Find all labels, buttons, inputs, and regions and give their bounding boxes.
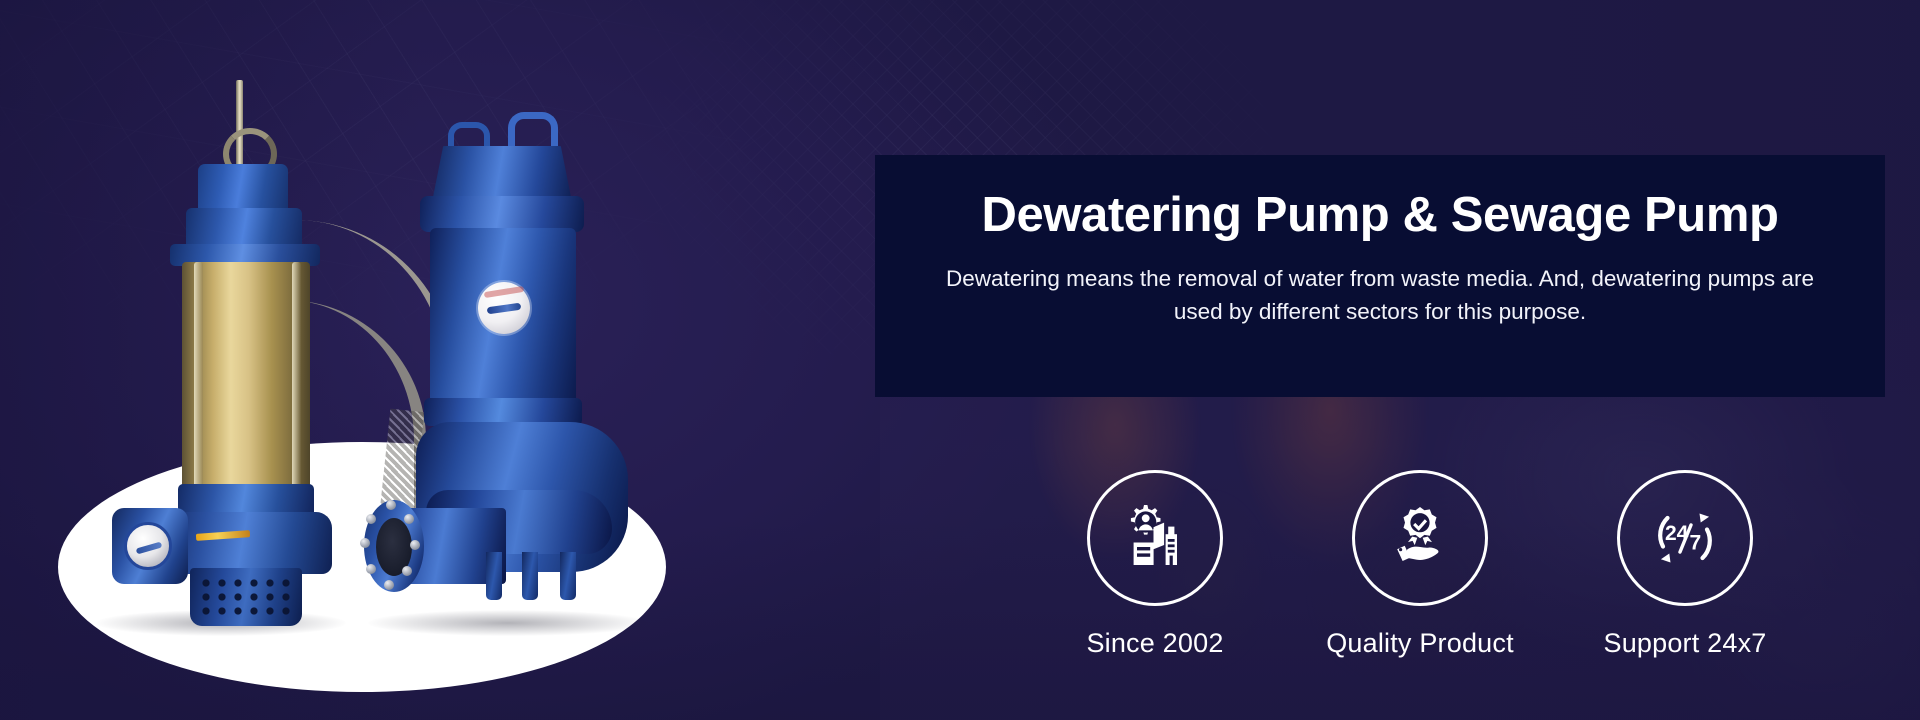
feature-icon-circle: 24 7 (1617, 470, 1753, 606)
product-image-group (0, 70, 760, 720)
sewage-pump-support-feet (486, 552, 592, 600)
feature-badge-list: Since 2002 (1040, 470, 1800, 659)
svg-text:7: 7 (1690, 532, 1702, 555)
sewage-pump-upper-collar (420, 196, 584, 232)
hand-quality-badge-icon (1383, 501, 1457, 575)
factory-gear-person-icon (1118, 501, 1192, 575)
pump-brand-label-left (124, 522, 172, 570)
feature-label: Quality Product (1326, 628, 1514, 659)
feature-support-24x7[interactable]: 24 7 Support 24x7 (1570, 470, 1800, 659)
feature-quality-product[interactable]: Quality Product (1305, 470, 1535, 659)
feature-since-2002[interactable]: Since 2002 (1040, 470, 1270, 659)
page-subtitle: Dewatering means the removal of water fr… (875, 243, 1885, 329)
pump-barrel-rib-left (194, 262, 203, 490)
feature-label: Since 2002 (1086, 628, 1223, 659)
feature-icon-circle (1352, 470, 1488, 606)
dewatering-pump-image (120, 80, 370, 620)
sewage-pump-image (390, 110, 670, 630)
sewage-pump-top-shroud (432, 146, 572, 202)
hero-banner: Dewatering Pump & Sewage Pump Dewatering… (0, 0, 1920, 720)
page-title: Dewatering Pump & Sewage Pump (875, 155, 1885, 243)
pump-strainer-holes (198, 576, 294, 616)
feature-icon-circle (1087, 470, 1223, 606)
pump-brand-label-right (478, 282, 530, 334)
pump-barrel-rib-right (292, 262, 301, 490)
sewage-pump-flange-bolts (362, 498, 426, 594)
twentyfour-seven-icon: 24 7 (1647, 500, 1723, 576)
headline-panel: Dewatering Pump & Sewage Pump Dewatering… (875, 155, 1885, 397)
feature-label: Support 24x7 (1603, 628, 1766, 659)
